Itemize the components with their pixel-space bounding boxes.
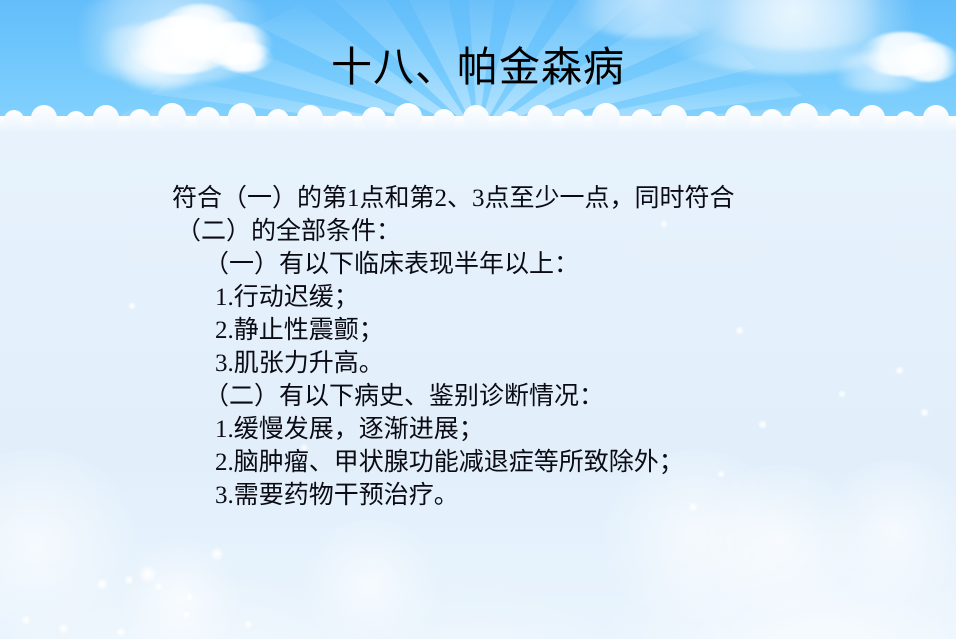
content-line: 符合（一）的第1点和第2、3点至少一点，同时符合 bbox=[172, 182, 932, 215]
content-line: （二）的全部条件： bbox=[172, 215, 932, 248]
content-text-block: 符合（一）的第1点和第2、3点至少一点，同时符合 （二）的全部条件： （一）有以… bbox=[172, 182, 932, 512]
content-line: 2.脑肿瘤、甲状腺功能减退症等所致除外； bbox=[172, 446, 932, 479]
content-line: 1.行动迟缓； bbox=[172, 281, 932, 314]
content-line: 3.需要药物干预治疗。 bbox=[172, 479, 932, 512]
page-title: 十八、帕金森病 bbox=[0, 44, 956, 90]
content-line: 1.缓慢发展，逐渐进展； bbox=[172, 413, 932, 446]
content-line: （一）有以下临床表现半年以上： bbox=[172, 248, 932, 281]
content-line: 2.静止性震颤； bbox=[172, 314, 932, 347]
slide: 十八、帕金森病 符合（一）的第1点和第2、3点至少一点，同时符合 （二）的全部条… bbox=[0, 0, 956, 639]
content-line: （二）有以下病史、鉴别诊断情况： bbox=[172, 380, 932, 413]
content-line: 3.肌张力升高。 bbox=[172, 347, 932, 380]
scalloped-cloud-border bbox=[0, 103, 956, 131]
